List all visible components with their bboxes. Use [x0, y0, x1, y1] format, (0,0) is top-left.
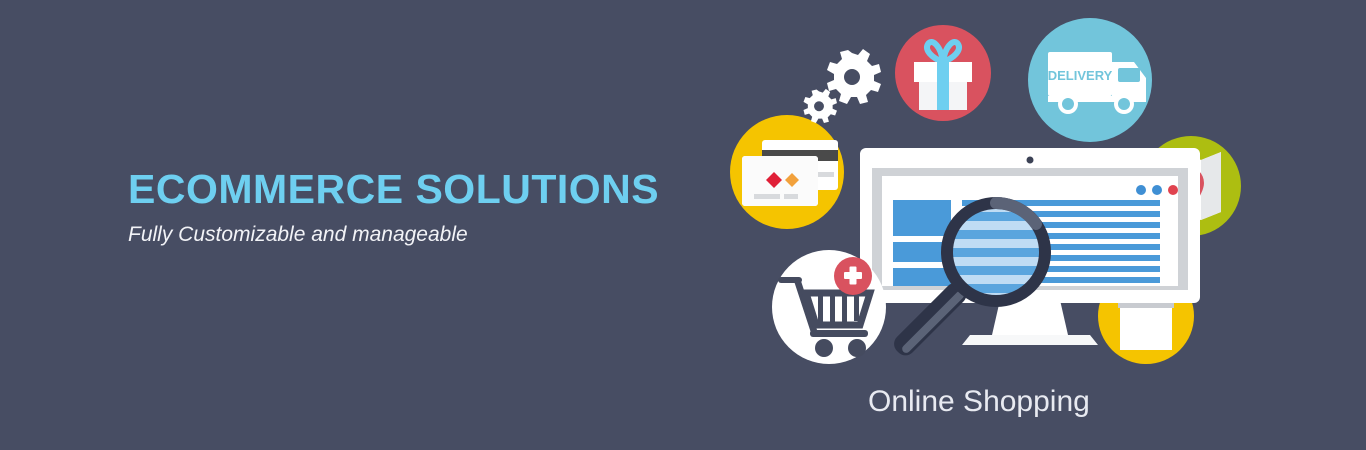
gift-ribbon-vertical — [937, 62, 949, 110]
headline-block: ECOMMERCE SOLUTIONS Fully Customizable a… — [128, 168, 688, 246]
window-dot-blue-1 — [1136, 185, 1146, 195]
window-dot-blue-2 — [1152, 185, 1162, 195]
cart-plus-vertical — [850, 267, 857, 285]
truck-window — [1118, 68, 1140, 82]
delivery-truck-icon: DELIVERY — [1028, 18, 1152, 142]
ecommerce-banner: ECOMMERCE SOLUTIONS Fully Customizable a… — [0, 0, 1366, 450]
truck-delivery-label: DELIVERY — [1048, 68, 1113, 83]
page-subtitle: Fully Customizable and manageable — [128, 223, 688, 246]
ecommerce-illustration: DELIVERY — [700, 0, 1366, 450]
truck-wheel-front — [1118, 98, 1130, 110]
monitor-camera-dot — [1027, 157, 1034, 164]
window-dot-red — [1168, 185, 1178, 195]
content-block-3 — [893, 268, 951, 286]
page-title: ECOMMERCE SOLUTIONS — [128, 168, 688, 211]
map-fold-right — [1201, 152, 1221, 220]
cart-wheel-left — [815, 339, 833, 357]
shopping-bag-body — [1120, 308, 1172, 350]
credit-card-front — [742, 156, 818, 206]
add-to-cart-icon — [772, 250, 886, 364]
credit-cards-icon — [730, 115, 844, 229]
content-block-1 — [893, 200, 951, 236]
truck-wheel-rear — [1062, 98, 1074, 110]
cart-wheel-right — [848, 339, 866, 357]
gift-icon — [895, 25, 991, 121]
gear-large — [827, 49, 881, 104]
gear-small — [804, 89, 837, 123]
monitor-stand-base — [962, 335, 1098, 345]
gears-icon — [804, 49, 882, 123]
